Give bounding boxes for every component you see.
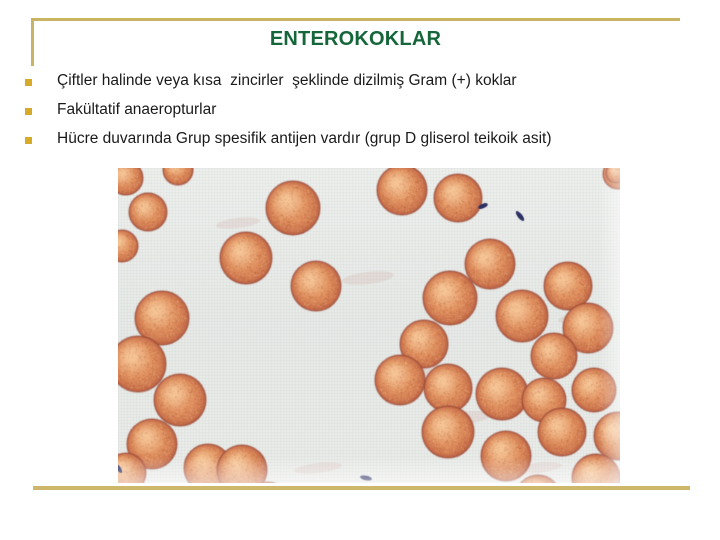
list-item-label: Çiftler halinde veya kısa zincirler şekl… bbox=[57, 70, 714, 91]
list-item: Hücre duvarında Grup spesifik antijen va… bbox=[14, 128, 714, 149]
title-top-rule bbox=[31, 18, 680, 21]
slide-bottom-rule bbox=[33, 486, 690, 490]
gram-stain-micrograph bbox=[118, 168, 620, 483]
bullet-list: Çiftler halinde veya kısa zincirler şekl… bbox=[14, 70, 714, 157]
square-bullet-icon bbox=[25, 108, 32, 115]
list-item: Fakültatif anaeropturlar bbox=[14, 99, 714, 120]
square-bullet-icon bbox=[25, 137, 32, 144]
list-item-label: Fakültatif anaeropturlar bbox=[57, 99, 714, 120]
square-bullet-icon bbox=[25, 79, 32, 86]
list-item-label: Hücre duvarında Grup spesifik antijen va… bbox=[57, 128, 714, 149]
micrograph-image bbox=[118, 168, 620, 483]
page-title: ENTEROKOKLAR bbox=[31, 27, 680, 51]
list-item: Çiftler halinde veya kısa zincirler şekl… bbox=[14, 70, 714, 91]
